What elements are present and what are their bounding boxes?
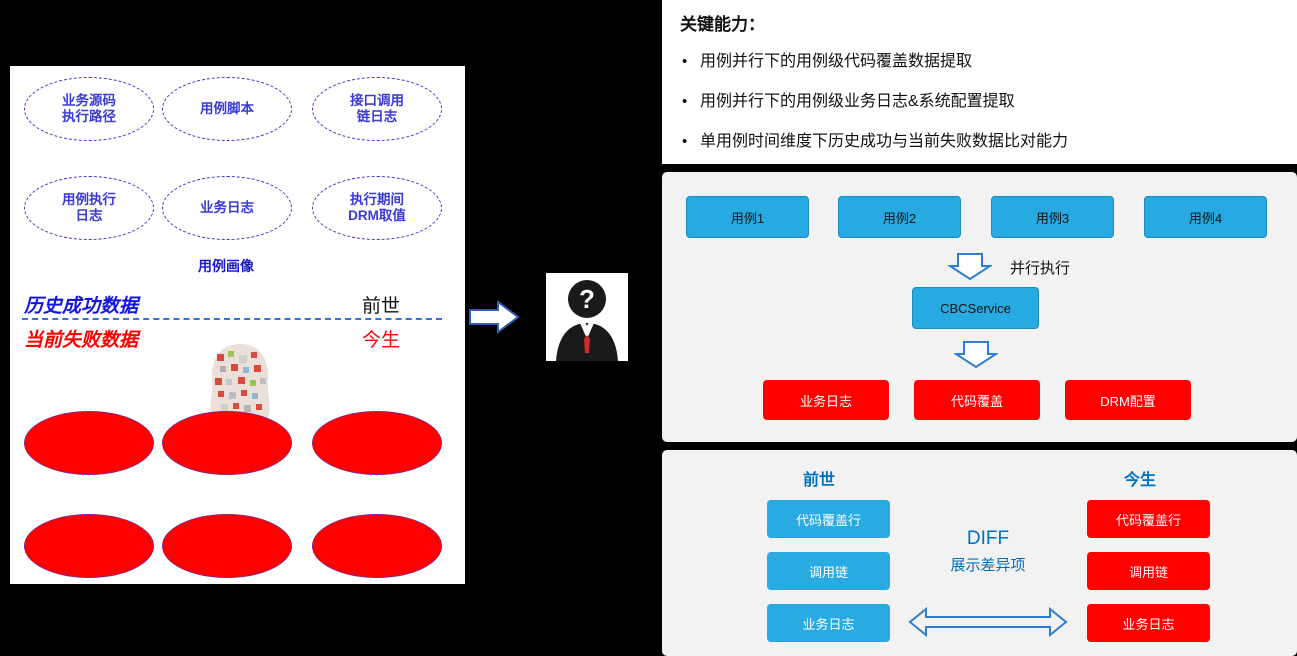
case-box-3: 用例3: [991, 196, 1114, 238]
ellipse-label: 接口调用 链日志: [350, 93, 404, 125]
history-success-label: 历史成功数据: [24, 291, 138, 318]
output-label: 业务日志: [800, 391, 852, 410]
capability-item-3: • 单用例时间维度下历史成功与当前失败数据比对能力: [682, 132, 1292, 152]
key-capabilities-panel: 关键能力： • 用例并行下的用例级代码覆盖数据提取 • 用例并行下的用例级业务日…: [662, 0, 1297, 164]
ellipse-label: 业务源码 执行路径: [62, 93, 116, 125]
case-label: 用例1: [731, 208, 764, 227]
case-portrait-panel: 业务源码 执行路径 用例脚本 接口调用 链日志 用例执行 日志 业务日志 执行期…: [10, 66, 465, 584]
ellipse-label: 执行期间 DRM取值: [348, 192, 406, 224]
ellipse-label: 业务日志: [200, 538, 254, 554]
diagram-canvas: 业务源码 执行路径 用例脚本 接口调用 链日志 用例执行 日志 业务日志 执行期…: [0, 0, 1297, 656]
ellipse-label: 接口调用 链日志: [350, 427, 404, 459]
ellipse-label: 业务日志: [200, 200, 254, 216]
capability-text: 用例并行下的用例级代码覆盖数据提取: [700, 52, 972, 72]
ellipse-label: 执行期间 DRM取值: [348, 530, 406, 562]
current-failure-label: 当前失败数据: [24, 325, 138, 352]
diff-left-item-1: 代码覆盖行: [767, 500, 890, 538]
diff-right-item-1: 代码覆盖行: [1087, 500, 1210, 538]
output-label: DRM配置: [1100, 391, 1156, 410]
bullet-icon: •: [682, 132, 700, 152]
case-box-1: 用例1: [686, 196, 809, 238]
ellipse-top-3: 接口调用 链日志: [312, 77, 442, 141]
unknown-person-avatar: ?: [546, 273, 628, 361]
ellipse-label: 用例脚本: [200, 101, 254, 117]
flow-arrow-icon: [468, 300, 520, 334]
ellipse-top-2: 用例脚本: [162, 77, 292, 141]
case-box-2: 用例2: [838, 196, 961, 238]
ellipse-top-1: 业务源码 执行路径: [24, 77, 154, 141]
case-label: 用例4: [1189, 208, 1222, 227]
diff-panel: 前世 今生 代码覆盖行 调用链 业务日志 代码覆盖行 调用链 业务日志 DIFF…: [662, 450, 1297, 656]
diff-item-label: 代码覆盖行: [796, 510, 861, 529]
parallel-execution-panel: 用例1 用例2 用例3 用例4 并行执行 CBCService 业务日志: [662, 172, 1297, 442]
capability-text: 用例并行下的用例级业务日志&系统配置提取: [700, 92, 1015, 112]
diff-title: DIFF: [918, 528, 1058, 550]
ellipse-bottom-4: 用例执行 日志: [24, 514, 154, 578]
double-arrow-icon: [908, 605, 1068, 644]
svg-text:?: ?: [579, 284, 595, 314]
diff-item-label: 调用链: [1129, 562, 1168, 581]
diff-item-label: 代码覆盖行: [1116, 510, 1181, 529]
ellipse-label: 用例脚本: [200, 435, 254, 451]
output-box-3: DRM配置: [1065, 380, 1191, 420]
capability-item-1: • 用例并行下的用例级代码覆盖数据提取: [682, 52, 1282, 72]
diff-left-item-3: 业务日志: [767, 604, 890, 642]
diff-left-header: 前世: [803, 466, 835, 490]
ellipse-top-4: 用例执行 日志: [24, 176, 154, 240]
capability-text: 单用例时间维度下历史成功与当前失败数据比对能力: [700, 132, 1068, 152]
down-arrow-icon-2: [954, 340, 998, 373]
output-box-2: 代码覆盖: [914, 380, 1040, 420]
down-arrow-icon-1: [948, 252, 992, 285]
ellipse-top-6: 执行期间 DRM取值: [312, 176, 442, 240]
ellipse-bottom-3: 接口调用 链日志: [312, 411, 442, 475]
output-label: 代码覆盖: [951, 391, 1003, 410]
diff-item-label: 业务日志: [1122, 614, 1174, 633]
diff-subtitle: 展示差异项: [918, 554, 1058, 575]
past-present-divider: [22, 318, 442, 320]
case-label: 用例3: [1036, 208, 1069, 227]
diff-item-label: 业务日志: [802, 614, 854, 633]
ellipse-top-5: 业务日志: [162, 176, 292, 240]
bullet-icon: •: [682, 92, 700, 112]
past-label: 前世: [362, 291, 400, 318]
ellipse-bottom-2: 用例脚本: [162, 411, 292, 475]
case-box-4: 用例4: [1144, 196, 1267, 238]
service-label: CBCService: [940, 301, 1011, 316]
portrait-caption: 用例画像: [198, 256, 254, 276]
bullet-icon: •: [682, 52, 700, 72]
ellipse-label: 业务源码 执行路径: [62, 427, 116, 459]
ellipse-bottom-6: 执行期间 DRM取值: [312, 514, 442, 578]
case-label: 用例2: [883, 208, 916, 227]
present-label: 今生: [362, 325, 400, 352]
diff-right-header: 今生: [1124, 466, 1156, 490]
parallel-exec-label: 并行执行: [1010, 257, 1070, 278]
output-box-1: 业务日志: [763, 380, 889, 420]
capability-item-2: • 用例并行下的用例级业务日志&系统配置提取: [682, 92, 1282, 112]
ellipse-bottom-5: 业务日志: [162, 514, 292, 578]
ellipse-bottom-1: 业务源码 执行路径: [24, 411, 154, 475]
ellipse-label: 用例执行 日志: [62, 192, 116, 224]
diff-item-label: 调用链: [809, 562, 848, 581]
diff-right-item-3: 业务日志: [1087, 604, 1210, 642]
cbc-service-box: CBCService: [912, 287, 1039, 329]
diff-left-item-2: 调用链: [767, 552, 890, 590]
key-capabilities-title: 关键能力：: [680, 10, 765, 35]
diff-right-item-2: 调用链: [1087, 552, 1210, 590]
ellipse-label: 用例执行 日志: [62, 530, 116, 562]
